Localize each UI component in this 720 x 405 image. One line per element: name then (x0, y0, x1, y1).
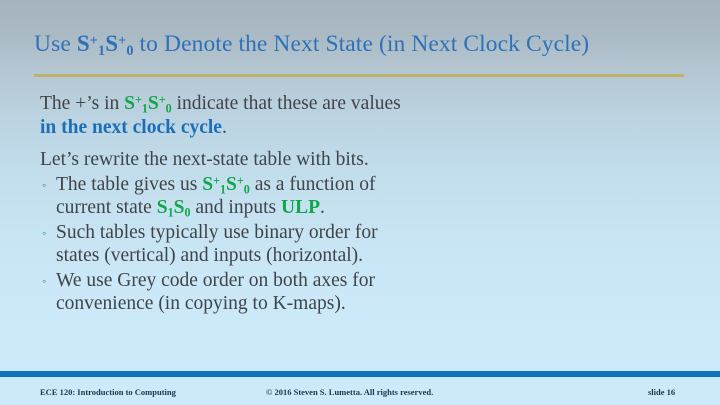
b1-symbol-s1-sup: + (213, 173, 220, 187)
b1-symbol-s1-next: S+1 (202, 174, 226, 195)
b1-symbol-s1-current-base: S (157, 197, 168, 218)
bullet2-line1: Such tables typically use binary order f… (56, 221, 688, 245)
bullet1-line2: current state S1S0 and inputs ULP. (56, 196, 688, 220)
title-symbol-s0-base: S (105, 31, 118, 56)
b1-symbol-s0-next: S+0 (226, 174, 250, 195)
footer-copyright: © 2016 Steven S. Lumetta. All rights res… (266, 387, 433, 397)
p1-symbol-s1-sup: + (135, 93, 142, 107)
bullet3-line2: convenience (in copying to K-maps). (56, 292, 688, 316)
slide-canvas: Use S+1S+0 to Denote the Next State (in … (0, 0, 720, 405)
title-symbol-s1-sup: + (90, 33, 98, 49)
b1-symbol-s1-base: S (202, 174, 213, 195)
b1-l2-part1: current state (56, 197, 157, 218)
b1-symbol-s1-current: S1 (157, 197, 174, 218)
title-symbol-s1: S+1 (77, 31, 105, 56)
bullet-item-grey-code: ◦ We use Grey code order on both axes fo… (38, 269, 688, 316)
title-underline-rule (34, 74, 684, 77)
p1-part3: . (222, 117, 227, 138)
p1-part2: indicate that these are values (172, 93, 401, 114)
bullet1-line1: The table gives us S+1S+0 as a function … (56, 173, 688, 197)
bullet-item-table-function-text: The table gives us S+1S+0 as a function … (56, 173, 688, 220)
p1-part1: The +’s in (40, 93, 124, 114)
paragraph-spacer (38, 139, 688, 148)
b1-symbol-s0-base: S (226, 174, 237, 195)
b1-symbol-s0-current: S0 (174, 197, 191, 218)
p1-symbol-s1-base: S (124, 93, 135, 114)
paragraph-rewrite-table: Let’s rewrite the next-state table with … (38, 148, 688, 172)
bullet-item-grey-code-text: We use Grey code order on both axes for … (56, 269, 688, 316)
paragraph-plus-values-line1: The +’s in S+1S+0 indicate that these ar… (40, 92, 688, 116)
title-symbol-s0-sub: 0 (126, 43, 133, 59)
b1-l1-part1: The table gives us (56, 174, 202, 195)
page-title: Use S+1S+0 to Denote the Next State (in … (34, 30, 686, 58)
hollow-circle-bullet-icon: ◦ (38, 173, 56, 198)
b1-inputs-ulp: ULP (281, 197, 320, 218)
b1-l1-part2: as a function of (250, 174, 376, 195)
bullet-item-binary-order: ◦ Such tables typically use binary order… (38, 221, 688, 268)
bullet3-line1: We use Grey code order on both axes for (56, 269, 688, 293)
body-content: The +’s in S+1S+0 indicate that these ar… (38, 92, 688, 316)
b1-symbol-s0-current-base: S (174, 197, 185, 218)
b1-l2-part2: and inputs (191, 197, 281, 218)
bullet-item-binary-order-text: Such tables typically use binary order f… (56, 221, 688, 268)
title-symbol-s1-base: S (77, 31, 90, 56)
bullet-item-table-function: ◦ The table gives us S+1S+0 as a functio… (38, 173, 688, 220)
bullet2-line2: states (vertical) and inputs (horizontal… (56, 244, 688, 268)
b1-symbol-s0-sup: + (237, 173, 244, 187)
p1-symbol-s0-base: S (148, 93, 159, 114)
hollow-circle-bullet-icon: ◦ (38, 221, 56, 246)
hollow-circle-bullet-icon: ◦ (38, 269, 56, 294)
title-prefix: Use (34, 31, 77, 57)
footer-slide-number: slide 16 (648, 387, 675, 397)
p1-emphasis-next-clock-cycle: in the next clock cycle (40, 117, 222, 138)
footer: ECE 120: Introduction to Computing © 201… (0, 377, 720, 405)
paragraph-plus-values-line2: in the next clock cycle. (40, 116, 688, 140)
p1-symbol-s0-next: S+0 (148, 93, 172, 114)
title-block: Use S+1S+0 to Denote the Next State (in … (34, 30, 686, 58)
p1-symbol-s1-next: S+1 (124, 93, 148, 114)
title-suffix: to Denote the Next State (in Next Clock … (134, 31, 590, 57)
p1-symbol-s0-sup: + (159, 93, 166, 107)
footer-course-name: ECE 120: Introduction to Computing (40, 387, 176, 397)
title-symbol-s0: S+0 (105, 31, 133, 56)
paragraph-plus-values: The +’s in S+1S+0 indicate that these ar… (38, 92, 688, 139)
b1-l2-part3: . (320, 197, 325, 218)
